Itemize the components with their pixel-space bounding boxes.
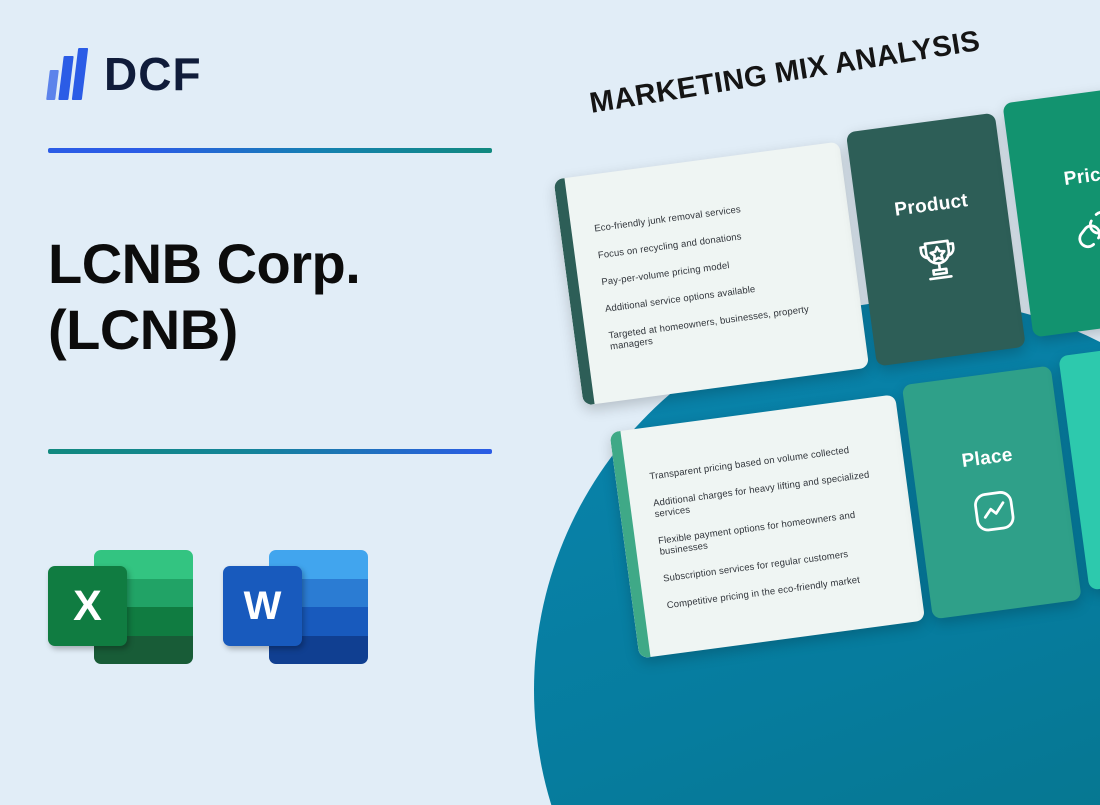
- document-format-icons: X W: [48, 546, 492, 664]
- page-title: LCNB Corp. (LCNB): [48, 231, 492, 363]
- price-bullets-card: Transparent pricing based on volume coll…: [609, 394, 925, 658]
- page-title-line-1: LCNB Corp.: [48, 231, 492, 297]
- brand-name: DCF: [104, 51, 202, 97]
- price-label: Price: [1063, 163, 1100, 191]
- word-file-icon[interactable]: W: [223, 546, 368, 664]
- card-deck: Eco-friendly junk removal services Focus…: [550, 71, 1100, 646]
- analytics-square-icon: [965, 482, 1023, 540]
- place-label: Place: [960, 444, 1014, 473]
- trophy-icon: [909, 229, 967, 287]
- bar-chart-logo-icon: [48, 48, 90, 100]
- page-title-line-2: (LCNB): [48, 297, 492, 363]
- brand-logo[interactable]: DCF: [48, 48, 492, 100]
- excel-file-icon[interactable]: X: [48, 546, 193, 664]
- product-label: Product: [893, 190, 969, 222]
- place-label-card[interactable]: Place: [902, 366, 1082, 620]
- product-bullets-card: Eco-friendly junk removal services Focus…: [554, 142, 870, 406]
- divider-top: [48, 148, 492, 153]
- left-info-panel: DCF LCNB Corp. (LCNB) X W: [0, 0, 540, 805]
- word-letter: W: [244, 586, 282, 626]
- marketing-mix-graphic: MARKETING MIX ANALYSIS Eco-friendly junk…: [510, 0, 1100, 805]
- chain-link-icon: [1066, 200, 1100, 258]
- product-label-card[interactable]: Product: [846, 113, 1026, 367]
- divider-bottom: [48, 449, 492, 454]
- word-letter-tile: W: [223, 566, 302, 646]
- excel-letter: X: [73, 585, 102, 628]
- excel-letter-tile: X: [48, 566, 127, 646]
